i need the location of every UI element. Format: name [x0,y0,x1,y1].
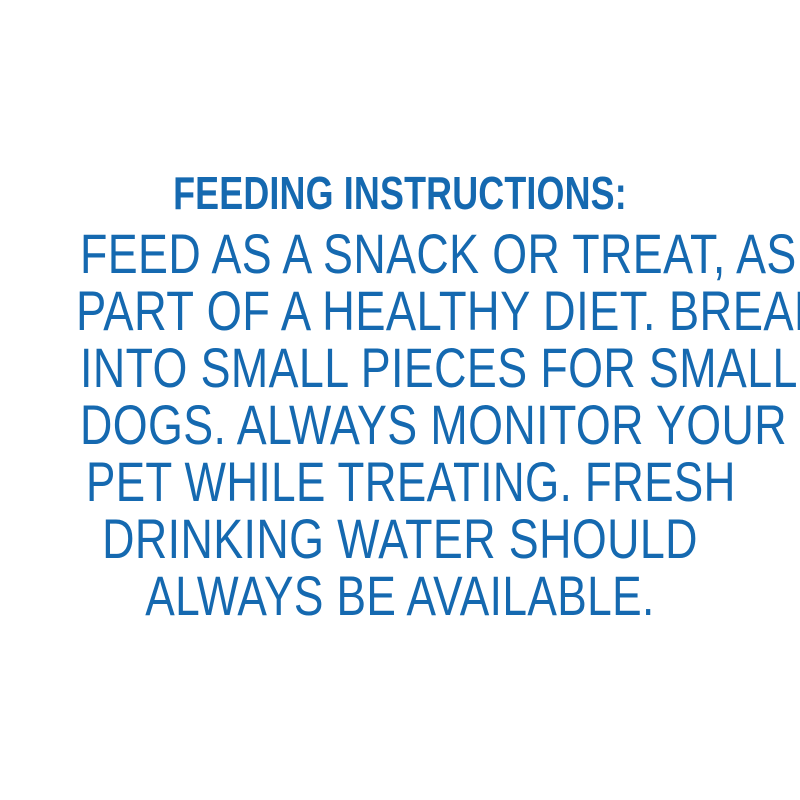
instructions-line-2: PART OF A HEALTHY DIET. BREAK [76,282,724,339]
instructions-line-1: FEED AS A SNACK OR TREAT, AS [80,225,720,282]
instructions-line-3: INTO SMALL PIECES FOR SMALL [80,339,720,396]
instructions-text-block: FEEDING INSTRUCTIONS: FEED AS A SNACK OR… [0,168,800,624]
instructions-line-5: PET WHILE TREATING. FRESH [86,453,714,510]
instructions-line-7: ALWAYS BE AVAILABLE. [84,567,716,624]
feeding-instructions-label: FEEDING INSTRUCTIONS: FEED AS A SNACK OR… [0,0,800,800]
feeding-instructions-heading: FEEDING INSTRUCTIONS: [88,168,712,218]
instructions-line-4: DOGS. ALWAYS MONITOR YOUR [80,396,720,453]
instructions-line-6: DRINKING WATER SHOULD [80,510,720,567]
